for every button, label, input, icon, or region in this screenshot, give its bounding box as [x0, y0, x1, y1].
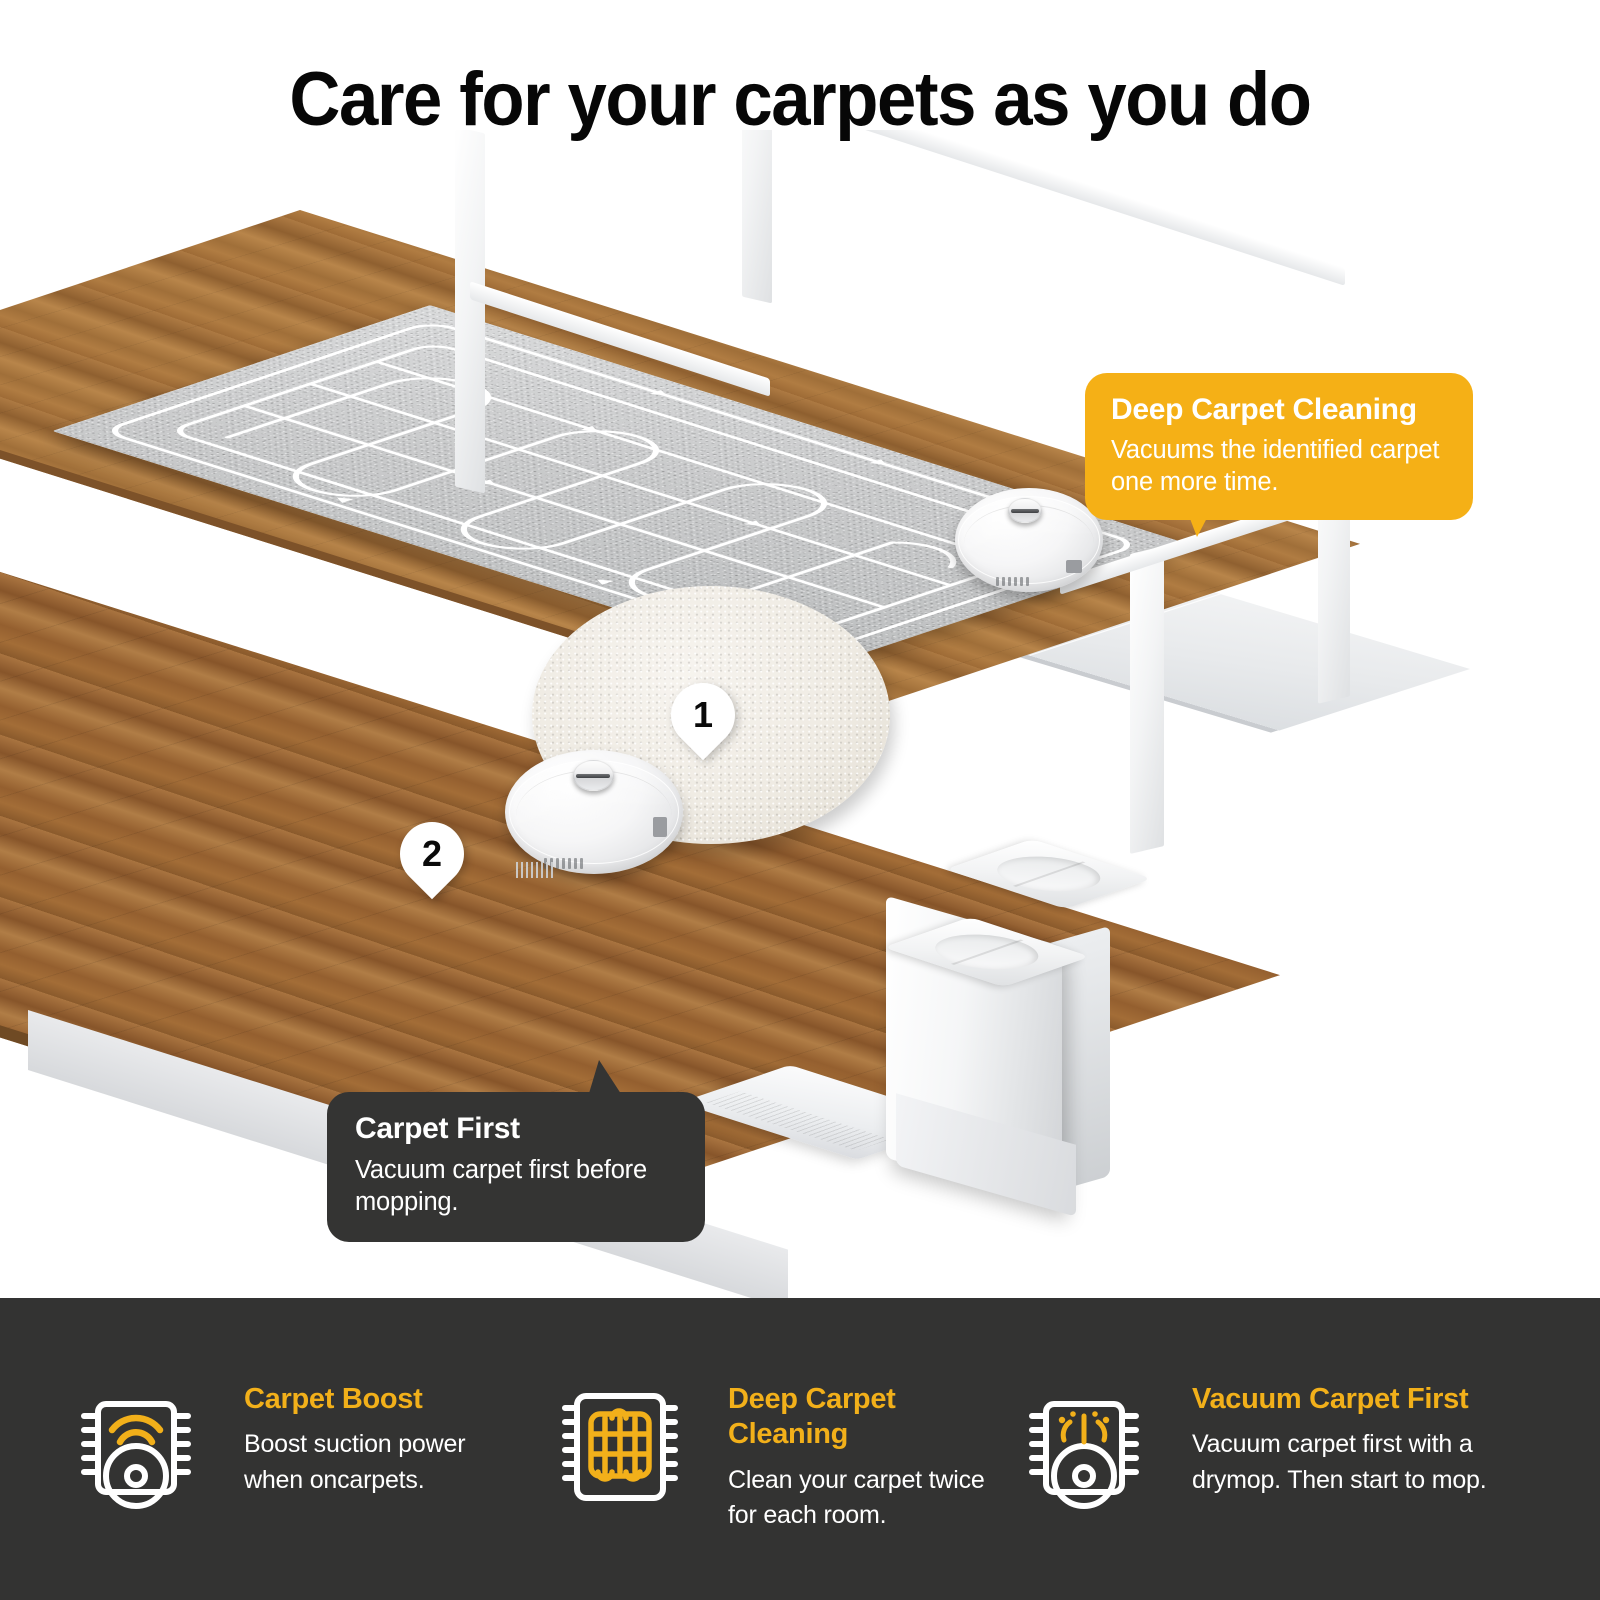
- vacuum-carpet-first-icon: [1020, 1372, 1170, 1522]
- poster-stage: Care for your carpets as you do: [0, 0, 1600, 1600]
- feature-text: Vacuum Carpet First Vacuum carpet first …: [1192, 1372, 1540, 1498]
- feature-description: Boost suction power when oncarpets.: [244, 1427, 502, 1498]
- product-scene: 1 2 Deep Carpet Cleaning Vacuums the ide…: [0, 130, 1600, 1300]
- feature-list: Carpet Boost Boost suction power when on…: [0, 1298, 1600, 1600]
- furniture-leg: [455, 130, 485, 493]
- deep-carpet-cleaning-icon: [556, 1372, 706, 1522]
- feature-text: Carpet Boost Boost suction power when on…: [244, 1372, 502, 1498]
- feature-description: Vacuum carpet first with a drymop. Then …: [1192, 1427, 1540, 1498]
- furniture-leg: [1130, 546, 1164, 854]
- step-marker-label: 2: [422, 836, 442, 872]
- dock-water-tank-lid: [946, 839, 1152, 909]
- robot-vacuum-on-carpet: [955, 488, 1103, 592]
- robot-sensor-port: [653, 817, 667, 837]
- feature-carpet-boost: Carpet Boost Boost suction power when on…: [72, 1372, 502, 1522]
- callout-description: Vacuum carpet first before mopping.: [355, 1154, 677, 1218]
- feature-title: Vacuum Carpet First: [1192, 1382, 1540, 1417]
- callout-title: Deep Carpet Cleaning: [1111, 393, 1447, 427]
- lidar-turret-icon: [573, 760, 614, 791]
- carpet-boost-icon: [72, 1372, 222, 1522]
- robot-vents: [996, 575, 1029, 586]
- callout-carpet-first: Carpet First Vacuum carpet first before …: [327, 1092, 705, 1242]
- dock-station: [800, 875, 1130, 1235]
- furniture-leg: [742, 130, 772, 303]
- furniture-rail: [755, 130, 1345, 286]
- feature-title: Carpet Boost: [244, 1382, 502, 1417]
- feature-description: Clean your carpet twice for each room.: [728, 1463, 986, 1534]
- callout-deep-carpet-cleaning: Deep Carpet Cleaning Vacuums the identif…: [1085, 373, 1473, 520]
- robot-vacuum-at-rug: [505, 750, 683, 874]
- callout-title: Carpet First: [355, 1112, 677, 1146]
- side-brush-icon: [516, 862, 555, 878]
- feature-deep-carpet-cleaning: Deep Carpet Cleaning Clean your carpet t…: [556, 1372, 986, 1534]
- feature-bar: Carpet Boost Boost suction power when on…: [0, 1298, 1600, 1600]
- step-marker-label: 1: [693, 697, 713, 733]
- feature-vacuum-carpet-first: Vacuum Carpet First Vacuum carpet first …: [1020, 1372, 1540, 1522]
- callout-description: Vacuums the identified carpet one more t…: [1111, 434, 1447, 498]
- feature-text: Deep Carpet Cleaning Clean your carpet t…: [728, 1372, 986, 1534]
- feature-title: Deep Carpet Cleaning: [728, 1382, 986, 1453]
- robot-sensor-port: [1066, 560, 1082, 573]
